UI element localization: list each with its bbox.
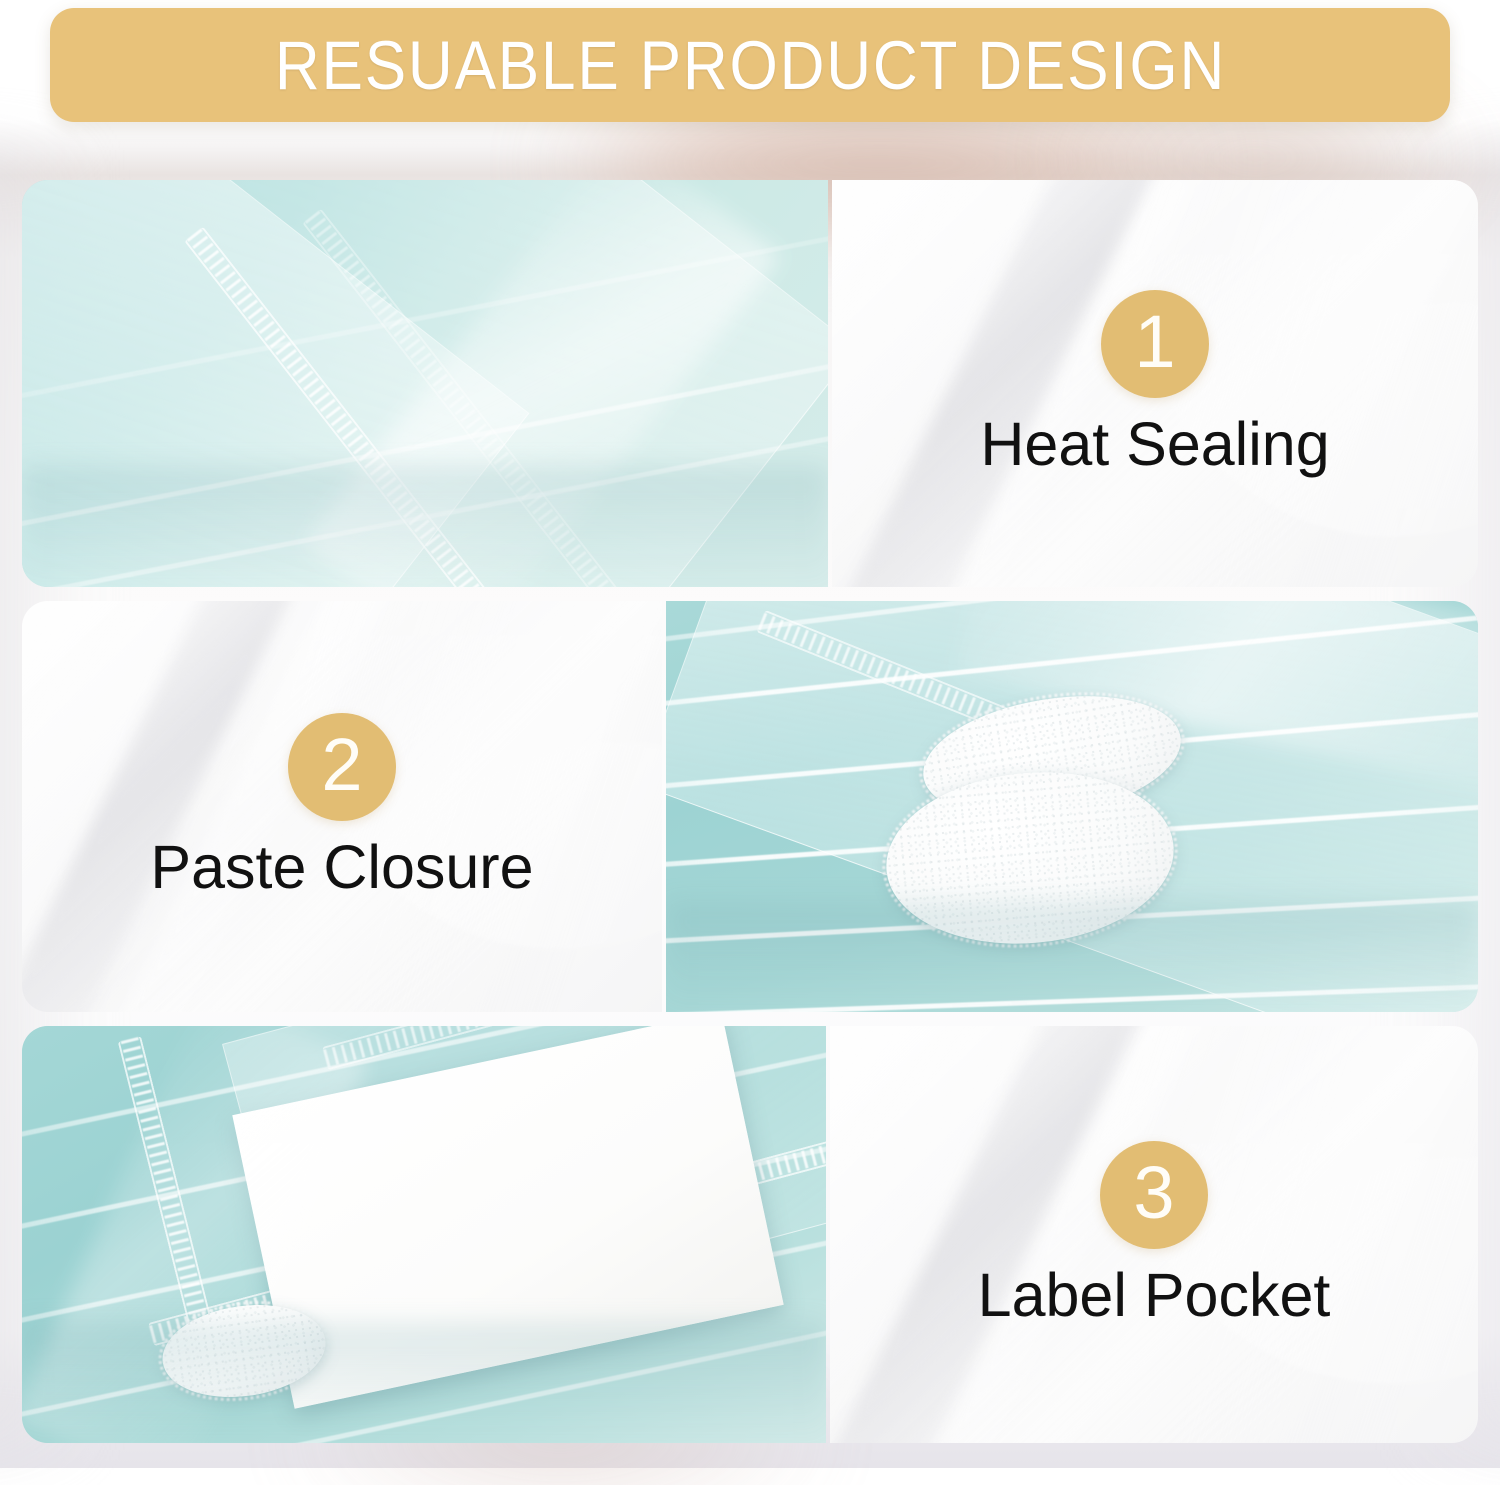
step-1-number-badge: 1 [1101, 290, 1209, 398]
step-3-content: 3 Label Pocket [978, 1141, 1331, 1327]
step-1-label: Heat Sealing [980, 412, 1329, 476]
step-1-text-panel: 1 Heat Sealing [832, 180, 1478, 587]
step-2-photo [666, 601, 1478, 1012]
step-2-number-badge: 2 [288, 713, 396, 821]
step-2-text-panel: 2 Paste Closure [22, 601, 662, 1012]
step-2-label: Paste Closure [150, 835, 533, 899]
step-1-photo [22, 180, 828, 587]
step-row-1: 1 Heat Sealing [22, 180, 1478, 587]
steps-grid: 1 Heat Sealing 2 Paste Closure [0, 0, 1500, 1468]
step-row-2: 2 Paste Closure [22, 601, 1478, 1012]
step-row-3: 3 Label Pocket [22, 1026, 1478, 1443]
step-3-photo [22, 1026, 826, 1443]
step-1-content: 1 Heat Sealing [980, 290, 1329, 476]
step-3-label: Label Pocket [978, 1263, 1331, 1327]
step-3-number-badge: 3 [1100, 1141, 1208, 1249]
folder-pinstripes [22, 180, 828, 587]
step-3-text-panel: 3 Label Pocket [830, 1026, 1478, 1443]
step-2-content: 2 Paste Closure [150, 713, 533, 899]
